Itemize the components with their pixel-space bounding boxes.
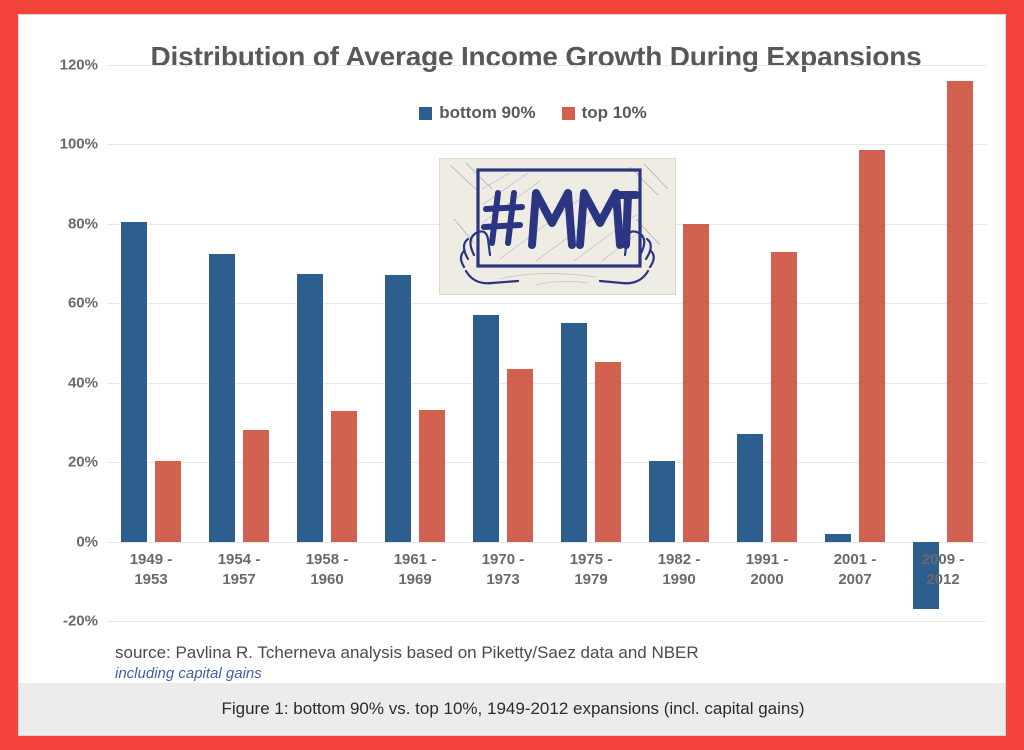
y-axis-tick-label: -20% xyxy=(63,613,98,630)
mmt-sketch-image xyxy=(439,158,676,295)
y-axis-tick-label: 100% xyxy=(60,136,98,153)
bar-group: 1961 -1969 xyxy=(371,65,459,621)
bar-top-10[interactable] xyxy=(595,362,621,542)
y-axis-tick-label: 0% xyxy=(76,533,98,550)
x-axis-tick-label: 1991 -2000 xyxy=(723,550,811,590)
bar-group: 1949 -1953 xyxy=(107,65,195,621)
x-axis-tick-label: 1954 -1957 xyxy=(195,550,283,590)
bar-bottom-90[interactable] xyxy=(649,461,675,541)
bar-top-10[interactable] xyxy=(683,224,709,542)
bar-bottom-90[interactable] xyxy=(297,274,323,542)
bar-group: 2001 -2007 xyxy=(811,65,899,621)
figure-caption-bar: Figure 1: bottom 90% vs. top 10%, 1949-2… xyxy=(19,683,1006,735)
bar-top-10[interactable] xyxy=(771,252,797,542)
bar-groups: 1949 -19531954 -19571958 -19601961 -1969… xyxy=(107,65,987,621)
chart-frame: Distribution of Average Income Growth Du… xyxy=(18,14,1006,736)
bar-bottom-90[interactable] xyxy=(473,315,499,541)
x-axis-tick-label: 1982 -1990 xyxy=(635,550,723,590)
bar-group: 1970 -1973 xyxy=(459,65,547,621)
figure-caption-text: Figure 1: bottom 90% vs. top 10%, 1949-2… xyxy=(221,699,804,719)
bar-top-10[interactable] xyxy=(947,81,973,542)
x-axis-tick-label: 1958 -1960 xyxy=(283,550,371,590)
gridline: -20% xyxy=(107,621,987,622)
bar-top-10[interactable] xyxy=(507,369,533,542)
plot-area: 120%100%80%60%40%20%0%-20% 1949 -1953195… xyxy=(107,65,987,621)
y-axis-tick-label: 40% xyxy=(68,374,98,391)
bar-bottom-90[interactable] xyxy=(737,434,763,541)
bar-group: 1982 -1990 xyxy=(635,65,723,621)
bar-group: 1975 -1979 xyxy=(547,65,635,621)
bar-top-10[interactable] xyxy=(419,410,445,542)
source-line: source: Pavlina R. Tcherneva analysis ba… xyxy=(115,643,975,663)
x-axis-tick-label: 1949 -1953 xyxy=(107,550,195,590)
bar-top-10[interactable] xyxy=(155,461,181,542)
x-axis-tick-label: 1975 -1979 xyxy=(547,550,635,590)
bar-top-10[interactable] xyxy=(859,150,885,542)
bar-bottom-90[interactable] xyxy=(121,222,147,542)
y-axis-tick-label: 60% xyxy=(68,295,98,312)
x-axis-tick-label: 1961 -1969 xyxy=(371,550,459,590)
source-note: including capital gains xyxy=(115,665,975,682)
y-axis-tick-label: 120% xyxy=(60,57,98,74)
bar-bottom-90[interactable] xyxy=(209,254,235,541)
x-axis-tick-label: 2009 -2012 xyxy=(899,550,987,590)
x-axis-tick-label: 1970 -1973 xyxy=(459,550,547,590)
bar-bottom-90[interactable] xyxy=(825,534,851,542)
bar-group: 1958 -1960 xyxy=(283,65,371,621)
bar-bottom-90[interactable] xyxy=(561,323,587,541)
bar-top-10[interactable] xyxy=(331,411,357,541)
bar-group: 1954 -1957 xyxy=(195,65,283,621)
mmt-sketch-svg xyxy=(440,159,675,294)
bar-top-10[interactable] xyxy=(243,430,269,541)
source-block: source: Pavlina R. Tcherneva analysis ba… xyxy=(115,643,975,682)
x-axis-tick-label: 2001 -2007 xyxy=(811,550,899,590)
bar-bottom-90[interactable] xyxy=(385,275,411,541)
bar-group: 2009 -2012 xyxy=(899,65,987,621)
y-axis-tick-label: 80% xyxy=(68,215,98,232)
bar-group: 1991 -2000 xyxy=(723,65,811,621)
y-axis-tick-label: 20% xyxy=(68,454,98,471)
